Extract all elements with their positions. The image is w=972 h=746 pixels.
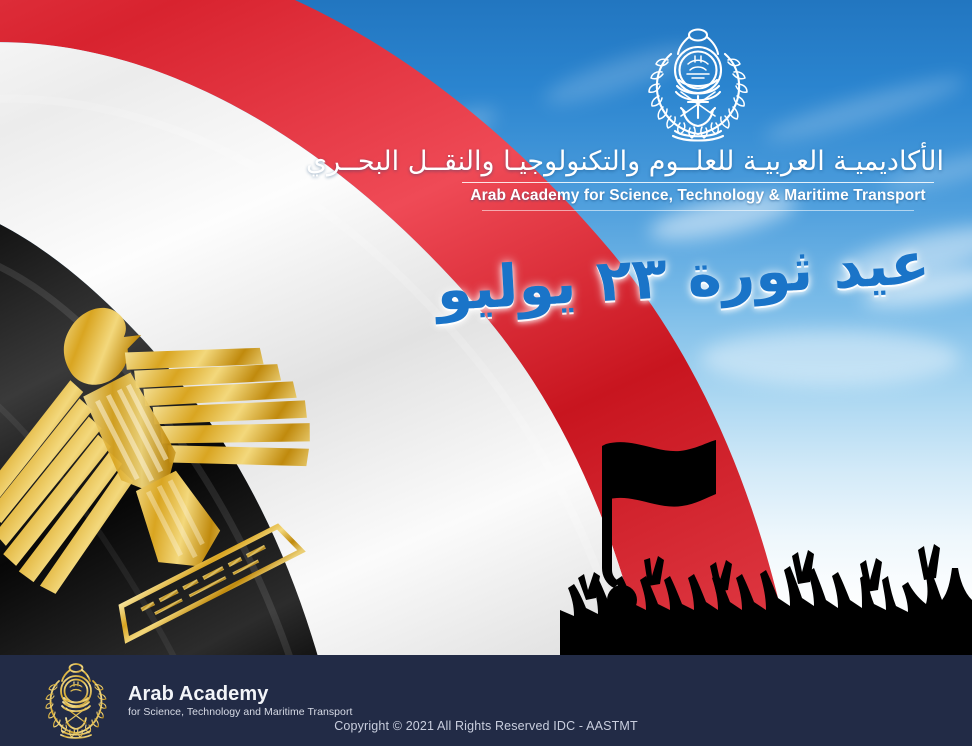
brand-divider-bottom bbox=[482, 210, 915, 211]
footer-title: Arab Academy bbox=[128, 683, 352, 705]
footer-brand-text: Arab Academy for Science, Technology and… bbox=[128, 683, 352, 718]
brand-arabic-name: الأكاديميـة العربيـة للعلــوم والتكنولوج… bbox=[452, 146, 944, 178]
cloud-icon bbox=[120, 8, 290, 52]
poster-page: الأكاديميـة العربيـة للعلــوم والتكنولوج… bbox=[0, 0, 972, 746]
aastmt-brand-header: الأكاديميـة العربيـة للعلــوم والتكنولوج… bbox=[452, 26, 944, 215]
copyright-text: Copyright © 2021 All Rights Reserved IDC… bbox=[0, 719, 972, 733]
cloud-icon bbox=[30, 26, 260, 96]
aastmt-crest-icon bbox=[633, 26, 763, 142]
cloud-icon bbox=[700, 330, 960, 386]
brand-divider-top bbox=[462, 182, 934, 183]
brand-english-name: Arab Academy for Science, Technology & M… bbox=[452, 187, 944, 205]
footer-subtitle: for Science, Technology and Maritime Tra… bbox=[128, 706, 352, 718]
footer-bar: Arab Academy for Science, Technology and… bbox=[0, 655, 972, 746]
